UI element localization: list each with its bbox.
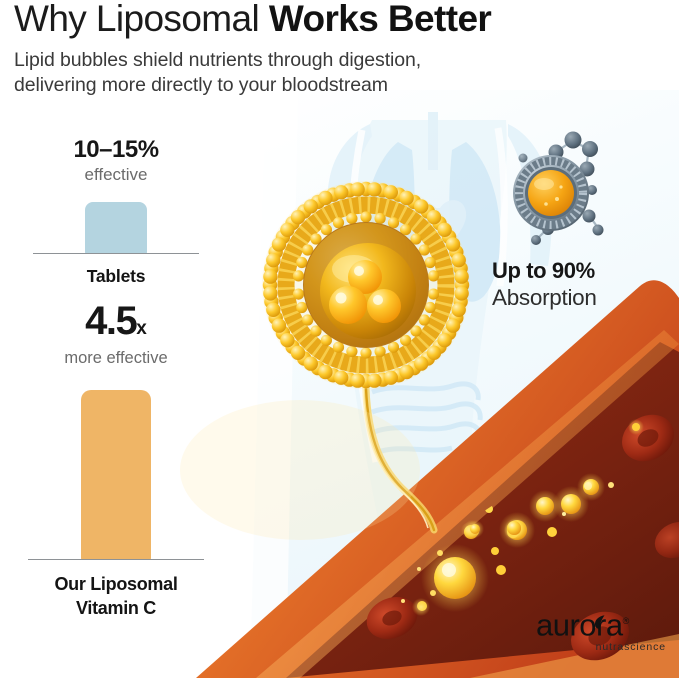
liposomal-bar-wrap xyxy=(10,378,222,560)
liposomal-category-label-line-1: Our Liposomal xyxy=(10,572,222,596)
liposomal-category-label: Our Liposomal Vitamin C xyxy=(10,572,222,620)
liposome-large xyxy=(262,181,470,389)
liposomal-baseline xyxy=(28,559,204,560)
bar-tablets xyxy=(85,202,147,254)
infographic-canvas: Why Liposomal Works Better Lipid bubbles… xyxy=(0,0,679,678)
absorption-subline: Absorption xyxy=(492,285,672,311)
brand-wordmark: aurora® xyxy=(536,606,666,640)
brand-tagline: nutrascience xyxy=(536,641,666,653)
liposomal-stat-number: 4.5 xyxy=(85,299,136,343)
liposomal-stat-suffix: x xyxy=(136,318,147,339)
registered-trademark-icon: ® xyxy=(623,616,629,626)
liposomal-stat-sublabel: more effective xyxy=(10,349,222,368)
tablets-bar-wrap xyxy=(18,192,214,254)
page-title: Why Liposomal Works Better xyxy=(14,0,491,40)
tablets-category-label: Tablets xyxy=(18,266,214,287)
title-light: Why Liposomal xyxy=(14,0,269,39)
page-subtitle: Lipid bubbles shield nutrients through d… xyxy=(14,48,421,98)
bar-liposomal xyxy=(81,390,151,560)
tablets-baseline xyxy=(33,253,199,254)
chart-group-liposomal: 4.5x more effective Our Liposomal Vitami… xyxy=(10,300,222,620)
subtitle-line-1: Lipid bubbles shield nutrients through d… xyxy=(14,48,421,73)
brand-logo: aurora® nutrascience xyxy=(536,606,666,653)
subtitle-line-2: delivering more directly to your bloodst… xyxy=(14,73,421,98)
liposomal-stat-value: 4.5x xyxy=(10,300,222,350)
absorption-callout: Up to 90% Absorption xyxy=(492,258,672,311)
title-bold: Works Better xyxy=(269,0,491,39)
leaf-icon xyxy=(590,612,610,632)
absorption-headline: Up to 90% xyxy=(492,258,672,284)
chart-group-tablets: 10–15% effective Tablets xyxy=(18,136,214,287)
tablets-stat-sublabel: effective xyxy=(18,165,214,185)
tablets-stat-value: 10–15% xyxy=(18,136,214,164)
liposomal-category-label-line-2: Vitamin C xyxy=(10,596,222,620)
